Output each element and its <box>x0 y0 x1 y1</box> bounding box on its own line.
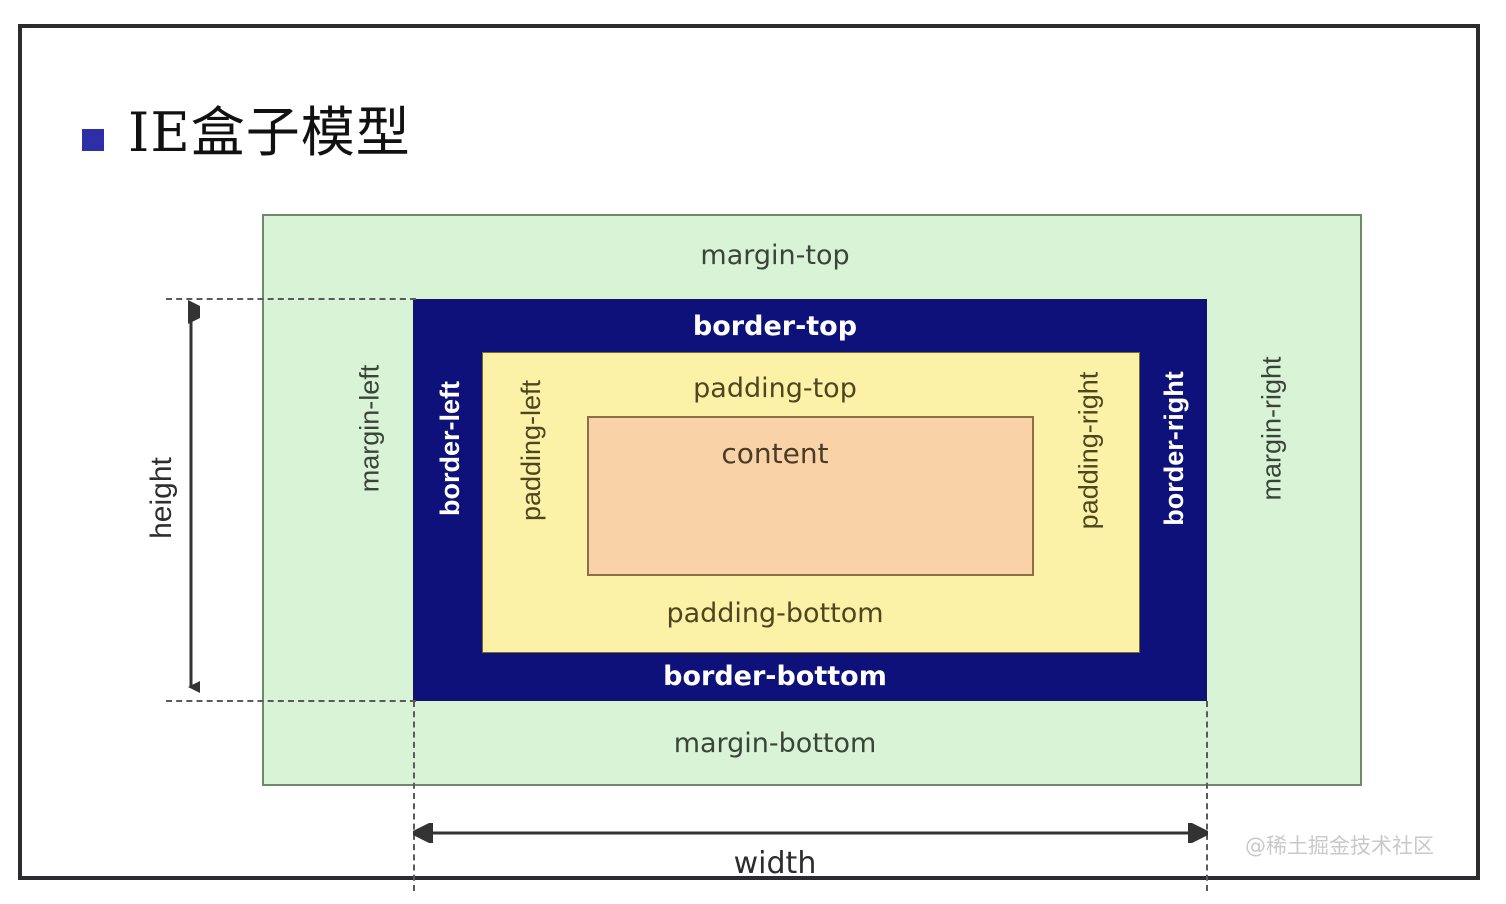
bullet-square-icon <box>82 129 104 151</box>
height-measure-arrow-icon <box>182 298 200 701</box>
slide-frame: IE盒子模型 margin-top border-top padding-top… <box>18 24 1480 880</box>
label-height: height <box>145 457 179 539</box>
width-measure-arrow-icon <box>413 823 1208 843</box>
label-margin-top: margin-top <box>22 240 1506 271</box>
page-title: IE盒子模型 <box>82 106 411 160</box>
label-padding-left-wrap: padding-left <box>442 430 622 470</box>
label-margin-right-wrap: margin-right <box>1182 408 1362 448</box>
guide-line-bottom <box>166 700 416 702</box>
label-padding-bottom: padding-bottom <box>22 598 1506 629</box>
label-padding-left: padding-left <box>516 379 547 520</box>
label-border-bottom: border-bottom <box>22 661 1506 692</box>
label-border-top: border-top <box>22 311 1506 342</box>
guide-line-top <box>166 298 416 300</box>
watermark: @稀土掘金技术社区 <box>1245 830 1434 860</box>
label-margin-right: margin-right <box>1256 356 1287 500</box>
page-title-text: IE盒子模型 <box>128 106 411 160</box>
label-margin-bottom: margin-bottom <box>22 728 1506 759</box>
label-height-wrap: height <box>142 478 182 518</box>
label-border-right: border-right <box>1159 371 1190 526</box>
